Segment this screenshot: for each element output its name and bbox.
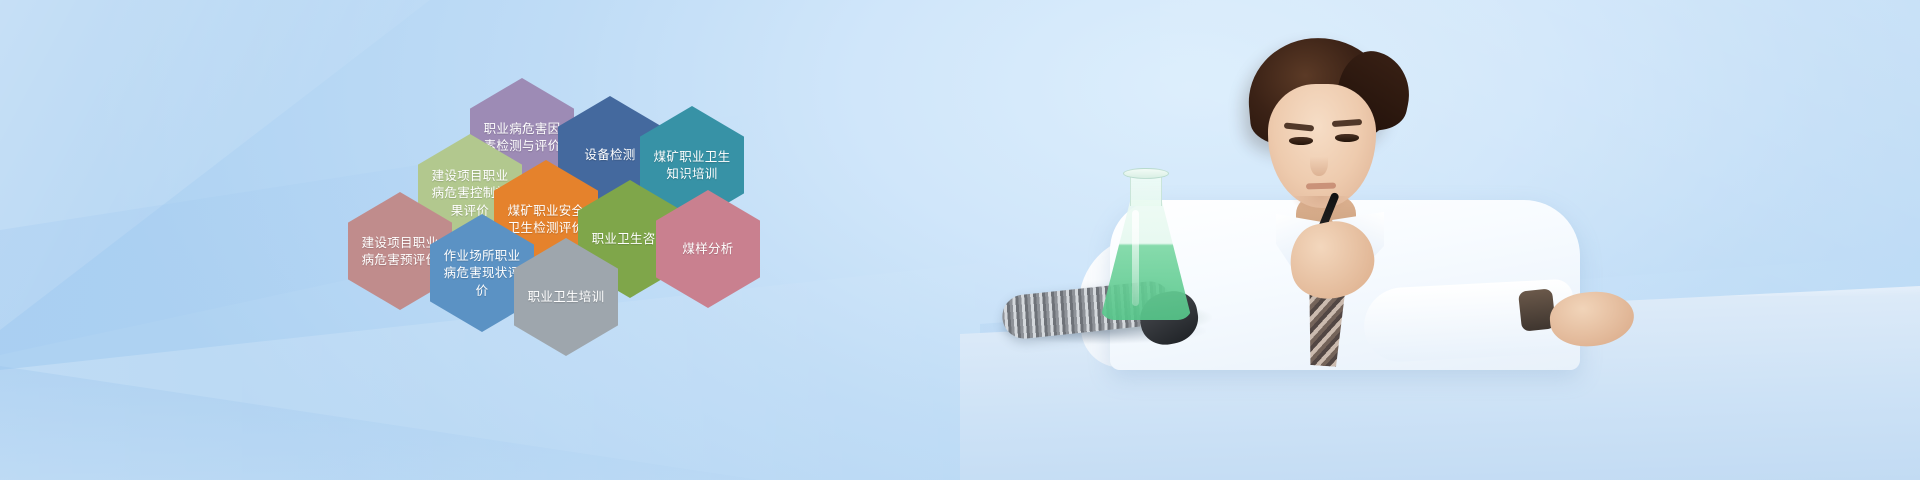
nose (1310, 148, 1328, 176)
face (1268, 84, 1376, 208)
hexagon-label: 煤矿职业卫生知识培训 (649, 148, 735, 183)
man-figure (960, 0, 1920, 480)
chin-shadow (1290, 196, 1352, 214)
erlenmeyer-flask-lip (1123, 168, 1169, 179)
hexagon-label: 煤矿职业安全卫生检测评价 (503, 202, 589, 237)
eye-left (1289, 137, 1313, 145)
hexagon-label: 煤样分析 (665, 240, 751, 257)
flask-highlight (1132, 210, 1139, 306)
hexagon-service-cluster: 职业病危害因素检测与评价建设项目职业病危害控制效果评价设备检测煤矿职业卫生知识培… (0, 0, 780, 360)
eye-right (1335, 134, 1359, 142)
hexagon-label: 职业卫生培训 (523, 288, 609, 305)
hexagon-label: 作业场所职业病危害现状评价 (439, 247, 525, 299)
photo-composite (960, 0, 1920, 480)
hero-banner: 职业病危害因素检测与评价建设项目职业病危害控制效果评价设备检测煤矿职业卫生知识培… (0, 0, 1920, 480)
mouth (1306, 182, 1336, 189)
